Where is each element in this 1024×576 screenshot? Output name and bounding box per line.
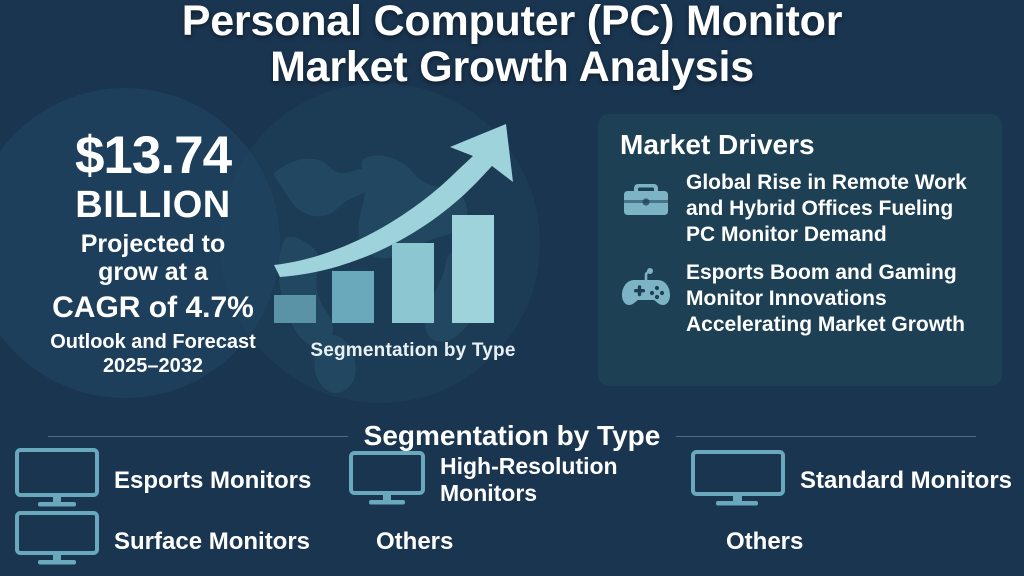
bar-group (268, 163, 528, 323)
segmentation-item[interactable]: High-Resolution Monitors (348, 448, 688, 512)
page-title: Personal Computer (PC) Monitor Market Gr… (0, 0, 1024, 90)
infographic-canvas: Personal Computer (PC) Monitor Market Gr… (0, 0, 1024, 576)
growth-bar-chart: Segmentation by Type (268, 100, 568, 370)
market-value-stat: $13.74 BILLION Projected to grow at a CA… (22, 128, 284, 378)
segmentation-item[interactable]: Esports Monitors (14, 448, 354, 512)
stat-unit: BILLION (22, 184, 284, 226)
stat-cagr: CAGR of 4.7% (22, 290, 284, 326)
monitor-icon (14, 447, 100, 514)
segmentation-item[interactable]: Others (690, 512, 1024, 570)
bar-1 (274, 295, 316, 323)
segmentation-label: Standard Monitors (800, 467, 1012, 494)
segmentation-label: Esports Monitors (114, 467, 311, 494)
divider-left (48, 436, 348, 437)
segmentation-label: Others (376, 528, 453, 555)
segmentation-item[interactable]: Standard Monitors (690, 448, 1024, 512)
title-line-1: Personal Computer (PC) Monitor (0, 0, 1024, 44)
segmentation-column: Esports Monitors Surface Monitors (14, 448, 354, 570)
segmentation-label: High-Resolution Monitors (440, 453, 688, 507)
segmentation-grid: Esports Monitors Surface Monitors (0, 448, 1024, 576)
monitor-icon (348, 450, 426, 511)
divider-right (676, 436, 976, 437)
stat-forecast-period: 2025–2032 (22, 354, 284, 378)
market-driver-text: Global Rise in Remote Work and Hybrid Of… (686, 170, 984, 248)
stat-subtext-line-2: grow at a (22, 258, 284, 286)
bar-3 (392, 243, 434, 323)
segmentation-label: Surface Monitors (114, 528, 310, 555)
market-driver-item: Global Rise in Remote Work and Hybrid Of… (620, 170, 984, 248)
market-drivers-panel: Market Drivers Global Rise in Remote Wor… (598, 114, 1002, 386)
stat-value: $13.74 (22, 128, 284, 184)
stat-forecast-label: Outlook and Forecast (22, 330, 284, 354)
title-line-2: Market Growth Analysis (0, 44, 1024, 90)
segmentation-item[interactable]: Surface Monitors (14, 512, 354, 570)
monitor-icon (14, 510, 100, 573)
segmentation-label: Others (726, 528, 803, 555)
bar-4 (452, 215, 494, 323)
market-drivers-title: Market Drivers (620, 128, 984, 162)
market-driver-text: Esports Boom and Gaming Monitor Innovati… (686, 260, 984, 338)
segmentation-column: High-Resolution Monitors Others (348, 448, 688, 570)
market-driver-item: Esports Boom and Gaming Monitor Innovati… (620, 260, 984, 338)
segmentation-item[interactable]: Others (348, 512, 688, 570)
segmentation-column: Standard Monitors Others (690, 448, 1024, 570)
stat-subtext-line-1: Projected to (22, 230, 284, 258)
gamepad-icon (620, 260, 674, 310)
briefcase-icon (620, 170, 674, 220)
chart-caption: Segmentation by Type (268, 340, 558, 362)
monitor-icon (690, 449, 786, 512)
bar-2 (332, 271, 374, 323)
